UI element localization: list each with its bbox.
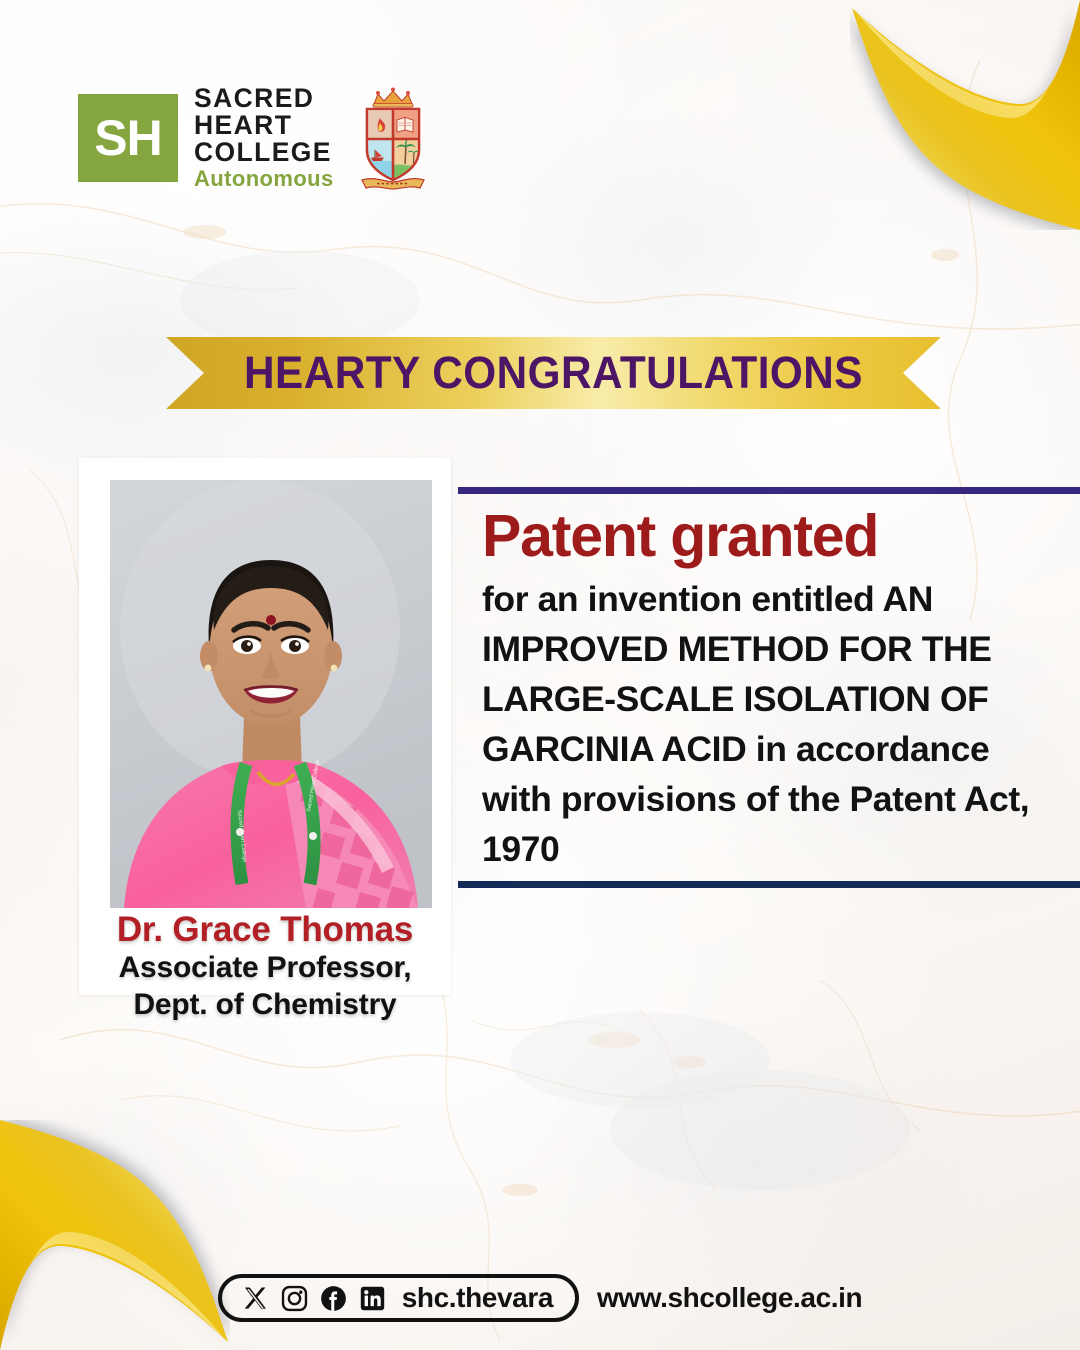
congratulations-ribbon: HEARTY CONGRATULATIONS: [166, 337, 941, 409]
panel-top-divider: [458, 487, 1080, 494]
honoree-photo: Sacred Heart College Sacred Heart Colleg…: [110, 480, 432, 908]
footer-bar: shc.thevara www.shcollege.ac.in: [0, 1274, 1080, 1322]
sh-monogram-text: SH: [94, 113, 161, 163]
college-word-autonomous: Autonomous: [194, 168, 334, 190]
announcement-panel: Patent granted for an invention entitled…: [482, 505, 1042, 874]
sh-monogram-mark: SH: [78, 94, 178, 182]
honoree-role-line-2: Dept. of Chemistry: [79, 988, 451, 1023]
instagram-icon[interactable]: [281, 1285, 308, 1312]
announcement-headline: Patent granted: [482, 505, 1042, 568]
ribbon-label: HEARTY CONGRATULATIONS: [189, 337, 918, 409]
x-twitter-icon[interactable]: [242, 1285, 269, 1312]
honoree-identity: Dr. Grace Thomas Associate Professor, De…: [79, 910, 451, 1023]
honoree-card: Sacred Heart College Sacred Heart Colleg…: [79, 458, 451, 995]
social-handle-pill[interactable]: shc.thevara: [218, 1274, 579, 1322]
social-handle-text: shc.thevara: [402, 1282, 553, 1314]
honoree-name: Dr. Grace Thomas: [79, 910, 451, 949]
honoree-role-line-1: Associate Professor,: [79, 951, 451, 986]
college-word-college: COLLEGE: [194, 139, 334, 166]
college-name-wordmark: SACRED HEART COLLEGE Autonomous: [194, 85, 334, 190]
announcement-body: for an invention entitled AN IMPROVED ME…: [482, 574, 1042, 874]
congratulations-poster: SH SACRED HEART COLLEGE Autonomous: [0, 0, 1080, 1350]
honoree-portrait-illustration: Sacred Heart College Sacred Heart Colleg…: [110, 480, 432, 908]
college-word-sacred: SACRED: [194, 85, 334, 112]
facebook-icon[interactable]: [320, 1285, 347, 1312]
college-logo: SH SACRED HEART COLLEGE Autonomous: [78, 84, 430, 192]
website-url[interactable]: www.shcollege.ac.in: [597, 1282, 862, 1314]
college-word-heart: HEART: [194, 112, 334, 139]
linkedin-icon[interactable]: [359, 1285, 386, 1312]
college-crest-icon: [356, 84, 430, 192]
panel-bottom-divider: [458, 881, 1080, 888]
